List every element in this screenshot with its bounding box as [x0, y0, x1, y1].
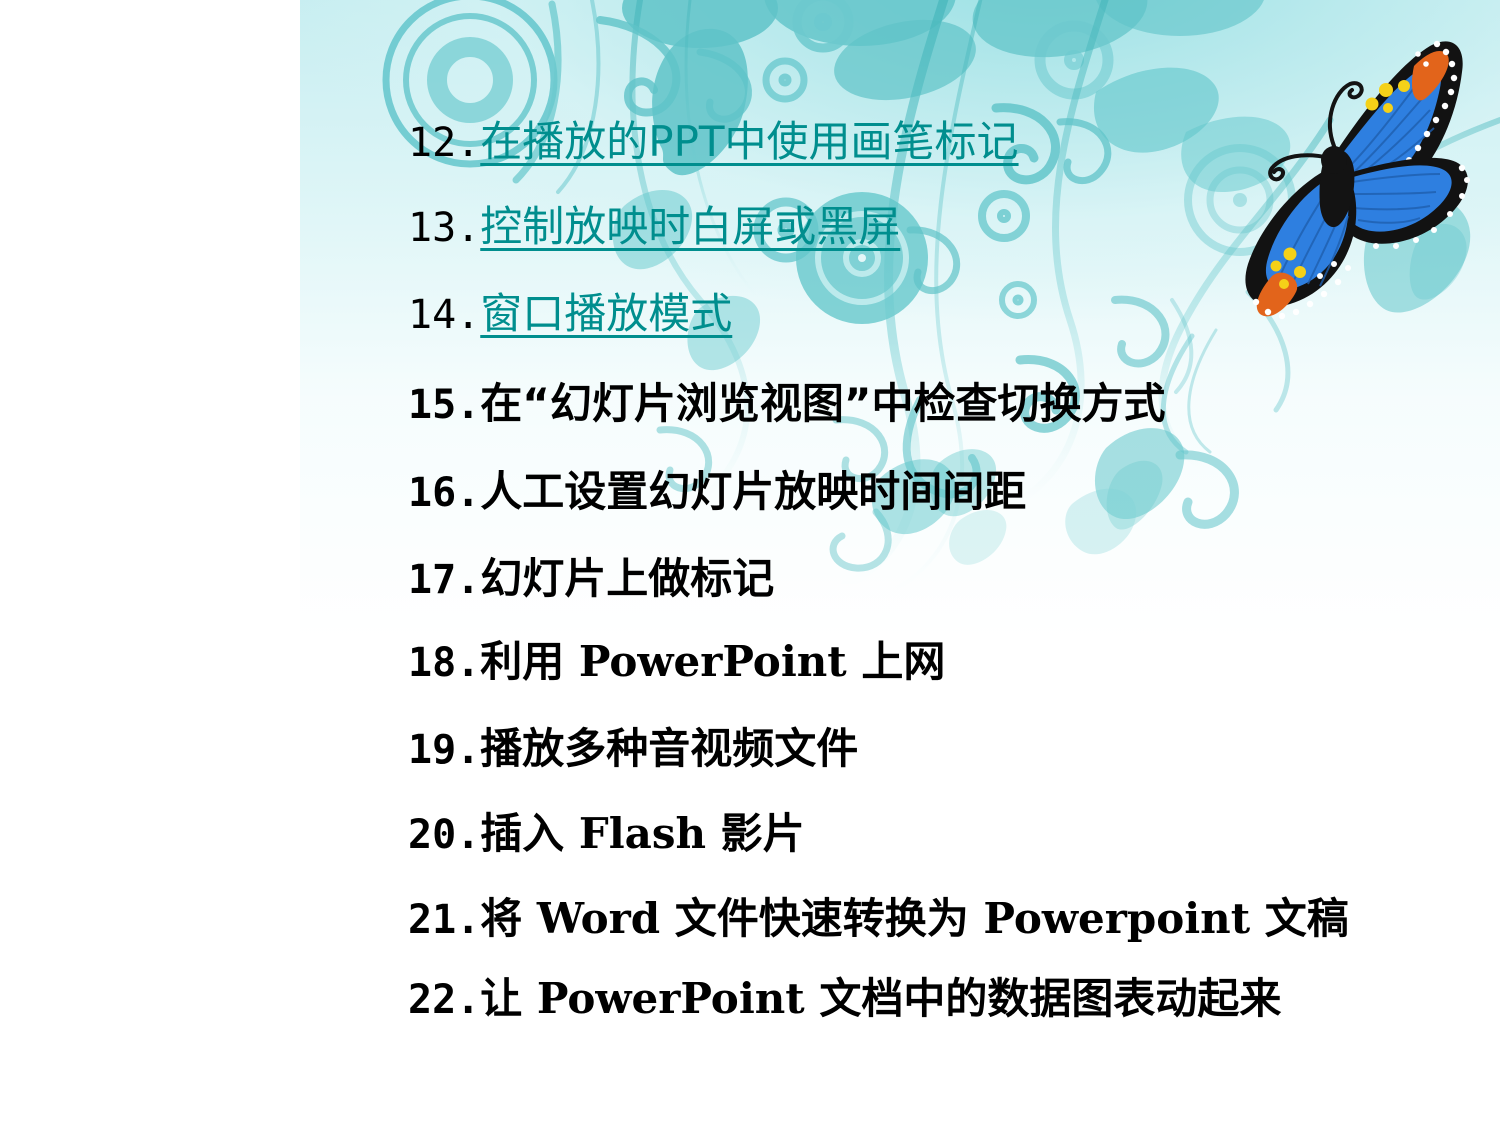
list-item-number: 18.	[408, 640, 480, 686]
list-item-text: 幻灯片上做标记	[480, 545, 774, 606]
list-item-text: 插入 Flash 影片	[480, 800, 804, 861]
list-item[interactable]: 18. 利用 PowerPoint 上网	[408, 628, 945, 689]
list-item-link[interactable]: 在播放的PPT中使用画笔标记	[480, 108, 1018, 169]
list-item-text: 人工设置幻灯片放映时间间距	[480, 458, 1026, 519]
list-item[interactable]: 20. 插入 Flash 影片	[408, 800, 805, 861]
list-item-number: 17.	[408, 557, 480, 603]
list-item-link[interactable]: 控制放映时白屏或黑屏	[480, 193, 900, 254]
list-item[interactable]: 21. 将 Word 文件快速转换为 Powerpoint 文稿	[408, 885, 1349, 946]
list-item[interactable]: 14. 窗口播放模式	[408, 280, 732, 341]
list-item-number: 12.	[408, 120, 480, 166]
list-item-text: 让 PowerPoint 文档中的数据图表动起来	[480, 965, 1281, 1026]
list-item-text: 在“幻灯片浏览视图”中检查切换方式	[480, 370, 1165, 431]
list-item-number: 21.	[408, 897, 480, 943]
list-item-text: 利用 PowerPoint 上网	[480, 628, 945, 689]
list-item-text: 播放多种音视频文件	[480, 715, 858, 776]
list-item-number: 19.	[408, 727, 480, 773]
list-item-number: 13.	[408, 205, 480, 251]
list-item[interactable]: 17. 幻灯片上做标记	[408, 545, 774, 606]
list-item[interactable]: 16. 人工设置幻灯片放映时间间距	[408, 458, 1026, 519]
list-item-link[interactable]: 窗口播放模式	[480, 280, 732, 341]
outline-list: 12. 在播放的PPT中使用画笔标记 13. 控制放映时白屏或黑屏 14. 窗口…	[0, 0, 1500, 1125]
list-item-number: 22.	[408, 977, 480, 1023]
list-item[interactable]: 12. 在播放的PPT中使用画笔标记	[408, 108, 1019, 169]
list-item-number: 14.	[408, 292, 480, 338]
list-item[interactable]: 15. 在“幻灯片浏览视图”中检查切换方式	[408, 370, 1165, 431]
slide-canvas: 12. 在播放的PPT中使用画笔标记 13. 控制放映时白屏或黑屏 14. 窗口…	[0, 0, 1500, 1125]
list-item-number: 15.	[408, 382, 480, 428]
list-item-number: 16.	[408, 470, 480, 516]
list-item[interactable]: 13. 控制放映时白屏或黑屏	[408, 193, 900, 254]
list-item-number: 20.	[408, 812, 480, 858]
list-item[interactable]: 22. 让 PowerPoint 文档中的数据图表动起来	[408, 965, 1281, 1026]
list-item[interactable]: 19. 播放多种音视频文件	[408, 715, 858, 776]
list-item-text: 将 Word 文件快速转换为 Powerpoint 文稿	[480, 885, 1349, 946]
